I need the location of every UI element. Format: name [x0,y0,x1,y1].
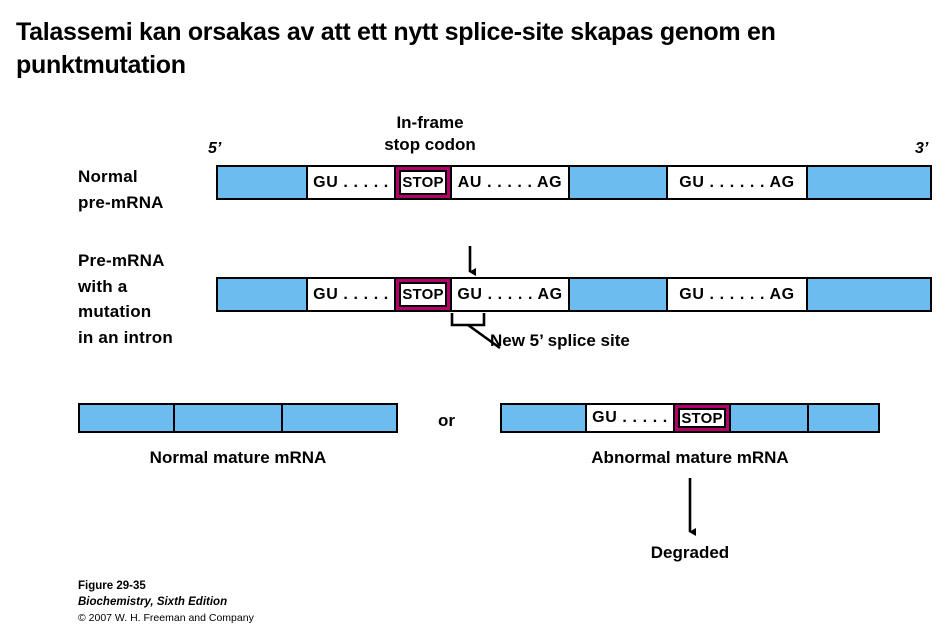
segment-intron-1: GU . . . . . [308,279,396,310]
segment-stop-codon-1: STOP [396,279,452,310]
degraded-label: Degraded [600,543,780,563]
in-frame-stop-codon-annotation: In-frame stop codon [330,112,530,156]
segment-stop-codon-1: STOP [675,405,731,431]
segment-exon-2 [570,167,668,198]
segment-exon-3 [808,167,930,198]
segment-intron-1: GU . . . . . [308,167,396,198]
stop-codon-label: STOP [399,282,447,307]
five-prime-label-row1: 5’ [208,140,221,158]
segment-exon-1 [218,279,308,310]
three-prime-label-row1: 3’ [915,140,928,158]
new-splice-site-annotation: New 5’ splice site [490,330,750,352]
segment-intron-1: GU . . . . . [587,405,675,431]
bar-normal-pre-mrna: GU . . . . . STOP AU . . . . . AG GU . .… [216,165,932,200]
segment-intron-2-new-splice: GU . . . . . AG [452,279,570,310]
segment-intron-3: GU . . . . . . AG [668,167,808,198]
segment-exon-3 [283,405,396,431]
stop-codon-label: STOP [399,170,447,195]
figure-source-book: Biochemistry, Sixth Edition [78,594,254,610]
bar-abnormal-mature-mrna: GU . . . . . STOP [500,403,880,433]
row-label-normal-pre-mrna: Normal pre-mRNA [78,164,164,215]
segment-intron-3: GU . . . . . . AG [668,279,808,310]
row-label-mutant-pre-mrna: Pre-mRNA with a mutation in an intron [78,248,173,350]
segment-exon-2 [175,405,283,431]
or-label: or [438,411,455,431]
segment-exon-3 [809,405,878,431]
page-title: Talassemi kan orsakas av att ett nytt sp… [16,16,916,82]
segment-exon-2 [570,279,668,310]
figure-number: Figure 29-35 [78,578,254,594]
segment-exon-3 [808,279,930,310]
stop-codon-label: STOP [678,408,726,428]
segment-exon-2 [731,405,809,431]
bar-normal-mature-mrna [78,403,398,433]
segment-exon-1 [502,405,587,431]
segment-exon-1 [218,167,308,198]
figure-credit: Figure 29-35 Biochemistry, Sixth Edition… [78,578,254,626]
normal-mature-mrna-caption: Normal mature mRNA [78,448,398,468]
segment-stop-codon-1: STOP [396,167,452,198]
figure-copyright: © 2007 W. H. Freeman and Company [78,611,254,626]
segment-intron-2: AU . . . . . AG [452,167,570,198]
segment-exon-1 [80,405,175,431]
bar-mutant-pre-mrna: GU . . . . . STOP GU . . . . . AG GU . .… [216,277,932,312]
abnormal-mature-mrna-caption: Abnormal mature mRNA [500,448,880,468]
